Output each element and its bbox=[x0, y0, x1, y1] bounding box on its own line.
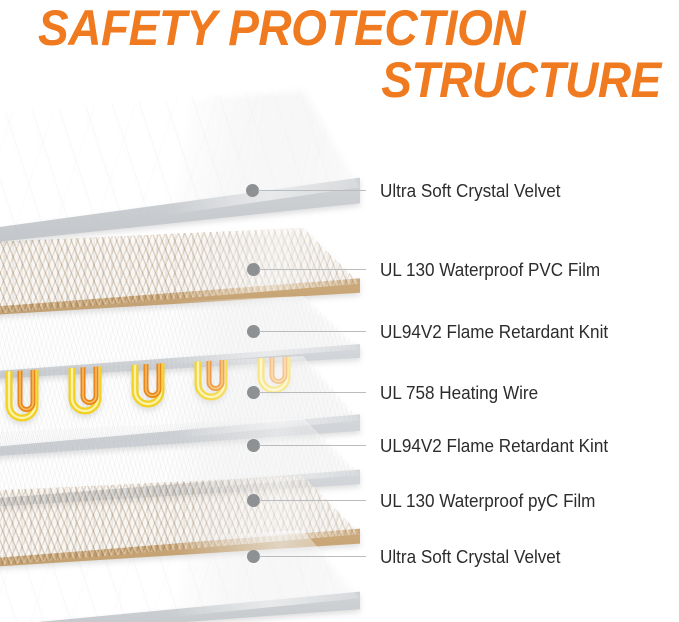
leader-line-7 bbox=[259, 556, 366, 557]
layer-label-6: UL 130 Waterproof pyC Film bbox=[380, 489, 595, 513]
layer-label-1: Ultra Soft Crystal Velvet bbox=[380, 179, 561, 203]
leader-line-4 bbox=[259, 392, 366, 393]
layer-label-5: UL94V2 Flame Retardant Kint bbox=[380, 434, 608, 458]
leader-line-5 bbox=[259, 445, 366, 446]
leader-line-3 bbox=[259, 331, 366, 332]
callout-group: Ultra Soft Crystal Velvet UL 130 Waterpr… bbox=[0, 0, 679, 622]
layer-label-2: UL 130 Waterproof PVC Film bbox=[380, 258, 600, 282]
layer-label-7: Ultra Soft Crystal Velvet bbox=[380, 545, 561, 569]
layer-label-3: UL94V2 Flame Retardant Knit bbox=[380, 320, 608, 344]
leader-line-2 bbox=[259, 269, 366, 270]
leader-line-1 bbox=[258, 190, 366, 191]
leader-line-6 bbox=[259, 500, 366, 501]
layer-label-4: UL 758 Heating Wire bbox=[380, 381, 538, 405]
infographic-canvas: SAFETY PROTECTION STRUCTURE bbox=[0, 0, 679, 622]
